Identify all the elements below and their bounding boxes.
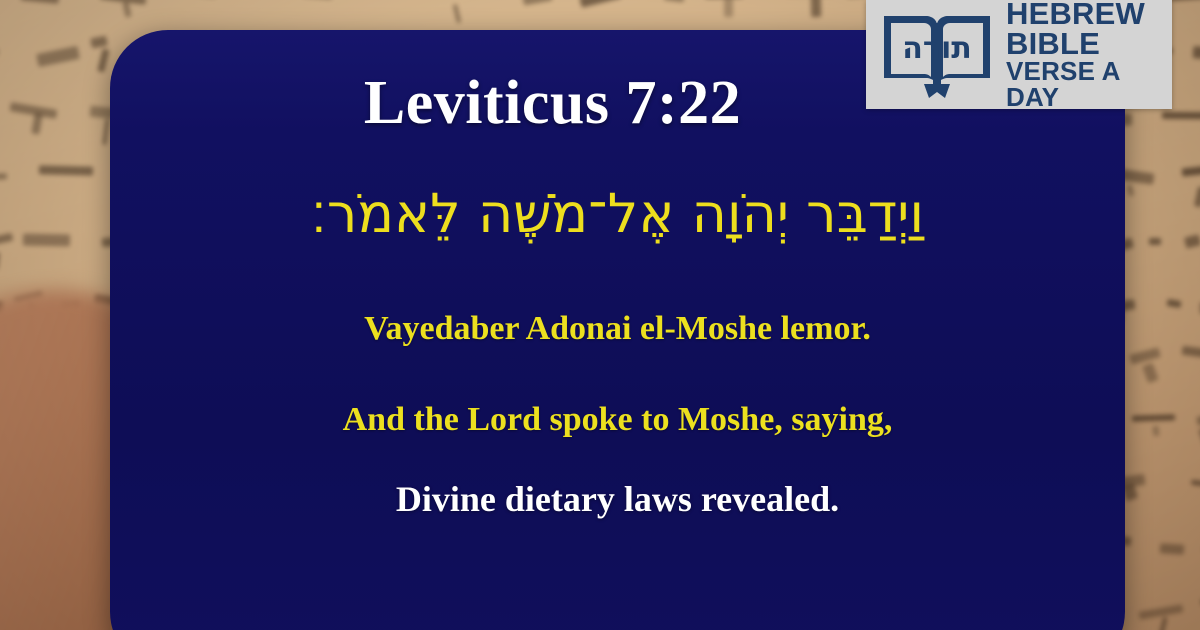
brand-wordmark: HEBREW BIBLE VERSE A DAY	[1006, 0, 1164, 110]
svg-text:תורה: תורה	[902, 31, 971, 66]
brand-line-bible: BIBLE	[1006, 29, 1164, 59]
verse-hebrew-text: וַיְדַבֵּר יְהֹוָה אֶל־מֹשֶׁה לֵּאמֹר׃	[110, 180, 1125, 248]
brand-line-verse-a-day: VERSE A DAY	[1006, 59, 1164, 109]
verse-image-canvas: Leviticus 7:22 וַיְדַבֵּר יְהֹוָה אֶל־מֹ…	[0, 0, 1200, 630]
verse-reference-title: Leviticus 7:22	[364, 72, 871, 134]
verse-card: Leviticus 7:22 וַיְדַבֵּר יְהֹוָה אֶל־מֹ…	[110, 30, 1125, 630]
open-book-icon: תורה	[878, 6, 996, 103]
brand-line-hebrew: HEBREW	[1006, 0, 1164, 29]
verse-card-content: Leviticus 7:22 וַיְדַבֵּר יְהֹוָה אֶל־מֹ…	[110, 30, 1125, 630]
verse-tagline-text: Divine dietary laws revealed.	[396, 480, 839, 520]
verse-transliteration-text: Vayedaber Adonai el-Moshe lemor.	[364, 310, 871, 347]
brand-logo-badge[interactable]: תורה HEBREW BIBLE VERSE A DAY	[866, 0, 1172, 109]
verse-translation-text: And the Lord spoke to Moshe, saying,	[343, 401, 893, 438]
